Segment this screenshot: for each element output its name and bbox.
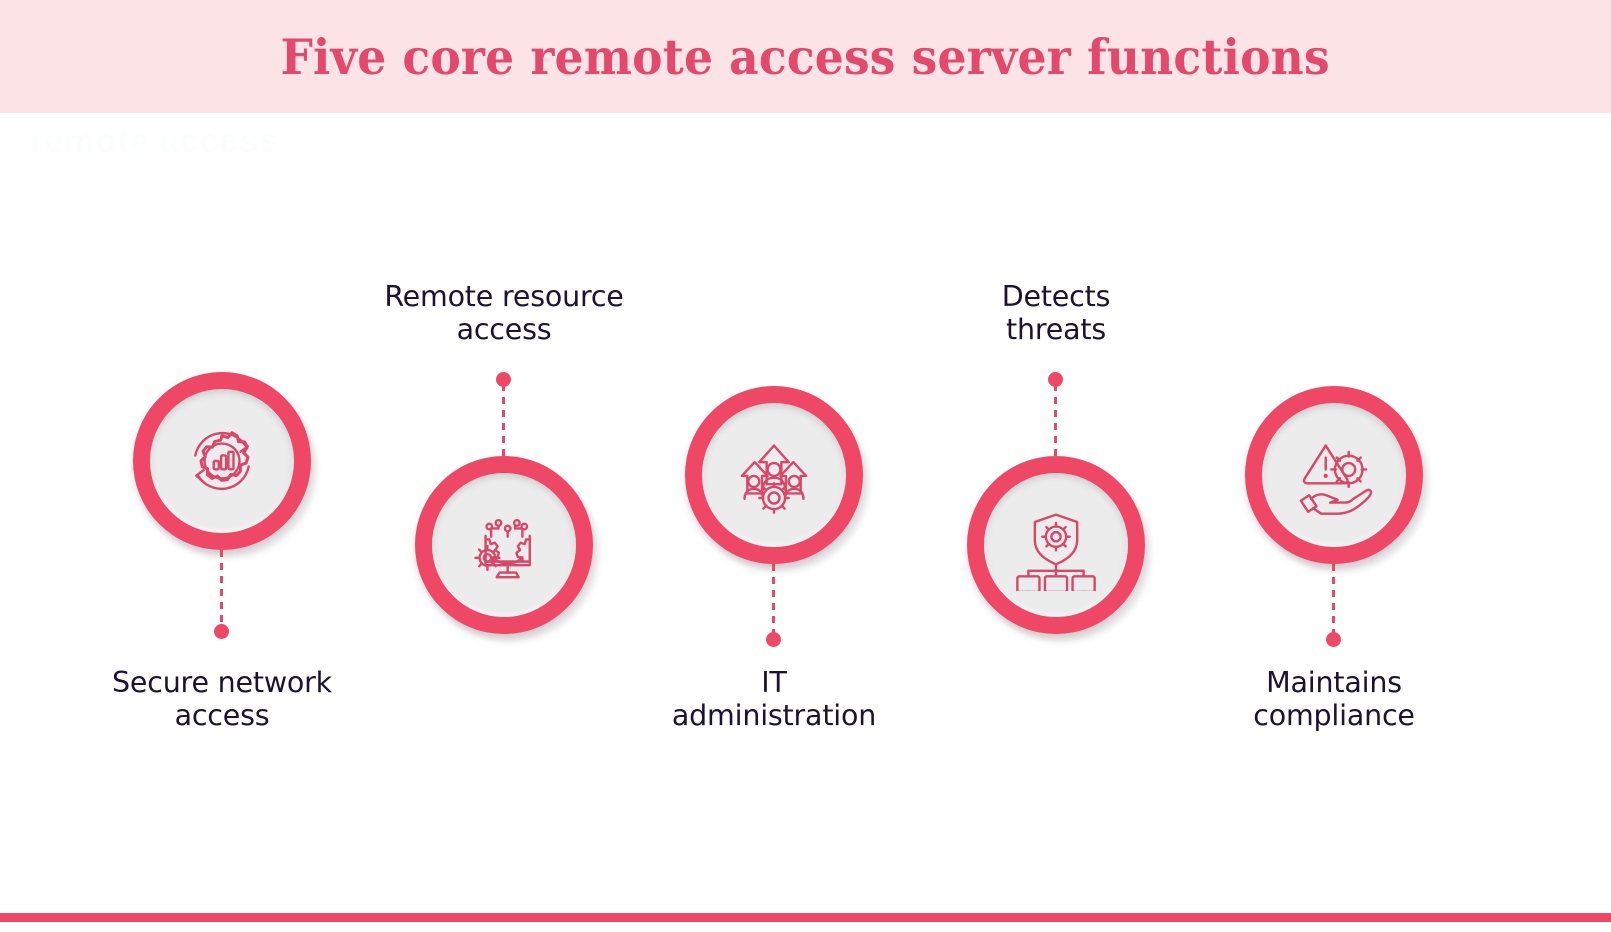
connector-dot (214, 624, 229, 639)
badge-inner-disc (150, 389, 294, 533)
label-line-1: Detects (906, 280, 1206, 313)
connector-stem (772, 564, 775, 636)
label-line-2: administration (624, 699, 924, 732)
label-line-1: Secure network (72, 666, 372, 699)
label-line-1: Maintains (1184, 666, 1484, 699)
badge-inner-disc (702, 403, 846, 547)
monitor-gears-network-icon (458, 499, 550, 591)
connector-stem (1332, 564, 1335, 636)
connector-stem (220, 550, 223, 628)
gear-bar-chart-refresh-icon (176, 415, 268, 507)
label-detects-threats: Detects threats (906, 280, 1206, 347)
connector-dot (766, 632, 781, 647)
badge-inner-disc (984, 473, 1128, 617)
label-line-1: Remote resource (354, 280, 654, 313)
badge-it-administration[interactable] (685, 386, 863, 564)
badge-inner-disc (432, 473, 576, 617)
label-line-2: compliance (1184, 699, 1484, 732)
shield-gear-monitors-icon (1010, 499, 1102, 591)
badge-remote-resource-access[interactable] (415, 456, 593, 634)
badge-secure-network-access[interactable] (133, 372, 311, 550)
hand-warning-gear-icon (1288, 429, 1380, 521)
label-remote-resource-access: Remote resource access (354, 280, 654, 347)
connector-dot (1326, 632, 1341, 647)
label-line-2: access (354, 313, 654, 346)
label-secure-network-access: Secure network access (72, 666, 372, 733)
infographic-page: Five core remote access server functions… (0, 0, 1611, 932)
label-it-administration: IT administration (624, 666, 924, 733)
badge-inner-disc (1262, 403, 1406, 547)
connector-stem (1054, 384, 1057, 459)
connector-stem (502, 384, 505, 459)
header-banner: Five core remote access server functions (0, 0, 1611, 113)
page-title: Five core remote access server functions (281, 28, 1330, 86)
badge-detects-threats[interactable] (967, 456, 1145, 634)
watermark-ghost-text: remote access (30, 122, 450, 168)
badge-maintains-compliance[interactable] (1245, 386, 1423, 564)
label-line-1: IT (624, 666, 924, 699)
footer-accent-bar (0, 913, 1611, 922)
label-line-2: threats (906, 313, 1206, 346)
label-line-2: access (72, 699, 372, 732)
team-growth-gear-icon (728, 429, 820, 521)
label-maintains-compliance: Maintains compliance (1184, 666, 1484, 733)
